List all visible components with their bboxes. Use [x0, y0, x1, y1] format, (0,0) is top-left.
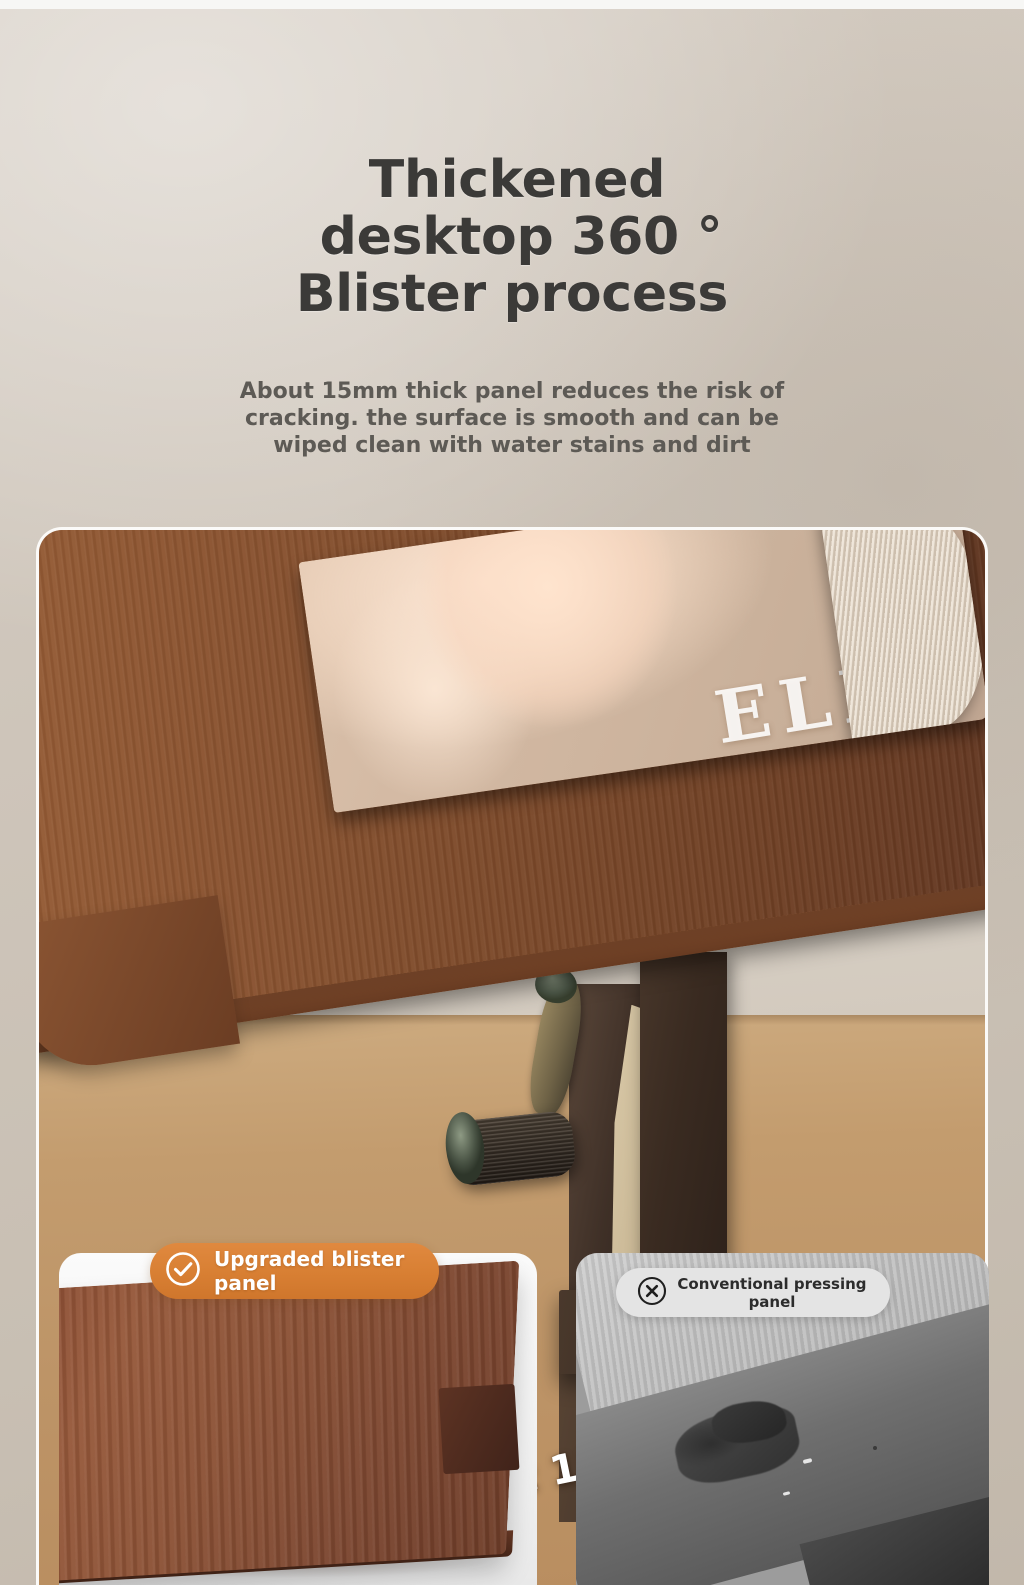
page-title: Thickened desktop 360 ° Blister process: [0, 152, 1024, 323]
product-feature-page: Thickened desktop 360 ° Blister process …: [0, 0, 1024, 1585]
badge-label-conventional: Conventional pressing panel: [668, 1275, 876, 1311]
badge-label-upgraded: Upgraded blister panel: [214, 1247, 439, 1295]
desk-rounded-corner: [39, 895, 240, 1075]
subtitle-line-3: wiped clean with water stains and dirt: [0, 432, 1024, 459]
badge-label-line-1: Conventional pressing: [677, 1275, 866, 1293]
subtitle-line-1: About 15mm thick panel reduces the risk …: [0, 378, 1024, 405]
headline-line-3: Blister process: [0, 266, 1024, 323]
badge-label-line-2: panel: [749, 1293, 796, 1311]
check-circle-icon: [164, 1250, 202, 1292]
headline-line-2: desktop 360 °: [0, 209, 1024, 266]
panel-debris-speck: [873, 1446, 877, 1450]
headline-line-1: Thickened: [0, 152, 1024, 209]
subtitle-line-2: cracking. the surface is smooth and can …: [0, 405, 1024, 432]
comparison-card-upgraded: [59, 1253, 537, 1585]
status-badge-upgraded: Upgraded blister panel: [150, 1243, 439, 1299]
x-circle-icon: [636, 1275, 668, 1311]
panel-step-notch: [439, 1384, 520, 1475]
page-subtitle: About 15mm thick panel reduces the risk …: [0, 378, 1024, 459]
top-white-strip: [0, 0, 1024, 9]
status-badge-conventional: Conventional pressing panel: [616, 1268, 890, 1317]
